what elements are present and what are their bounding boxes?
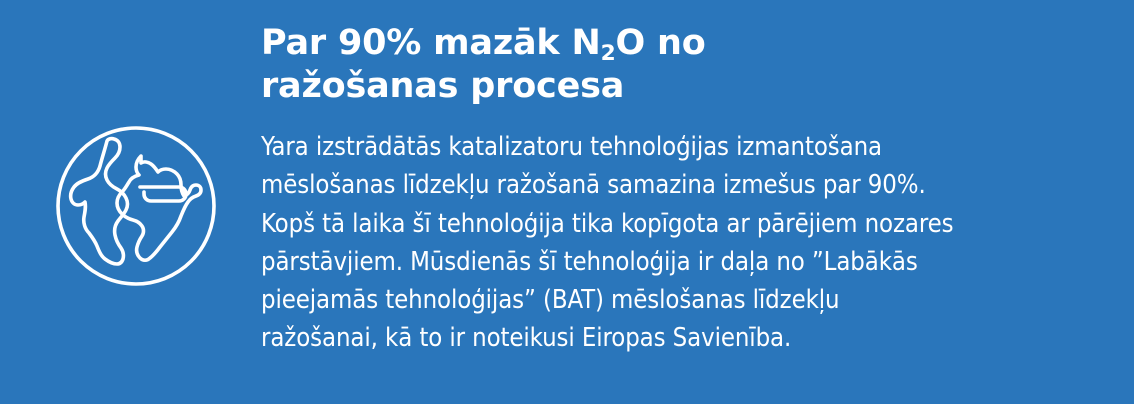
headline-subscript: 2 — [601, 41, 616, 66]
globe-icon — [55, 125, 217, 287]
page-title: Par 90% mazāk N2O no ražošanas procesa — [261, 22, 1091, 108]
globe-detail-stroke — [140, 187, 186, 201]
headline-prefix: Par 90% mazāk N — [261, 23, 601, 63]
panel-content: Par 90% mazāk N2O no ražošanas procesa Y… — [261, 22, 1091, 358]
globe-africa-eurasia — [117, 156, 201, 260]
info-panel: Par 90% mazāk N2O no ražošanas procesa Y… — [0, 0, 1134, 404]
body-paragraph: Yara izstrādātās katalizatoru tehnoloģij… — [261, 128, 1091, 358]
globe-americas — [71, 139, 128, 264]
